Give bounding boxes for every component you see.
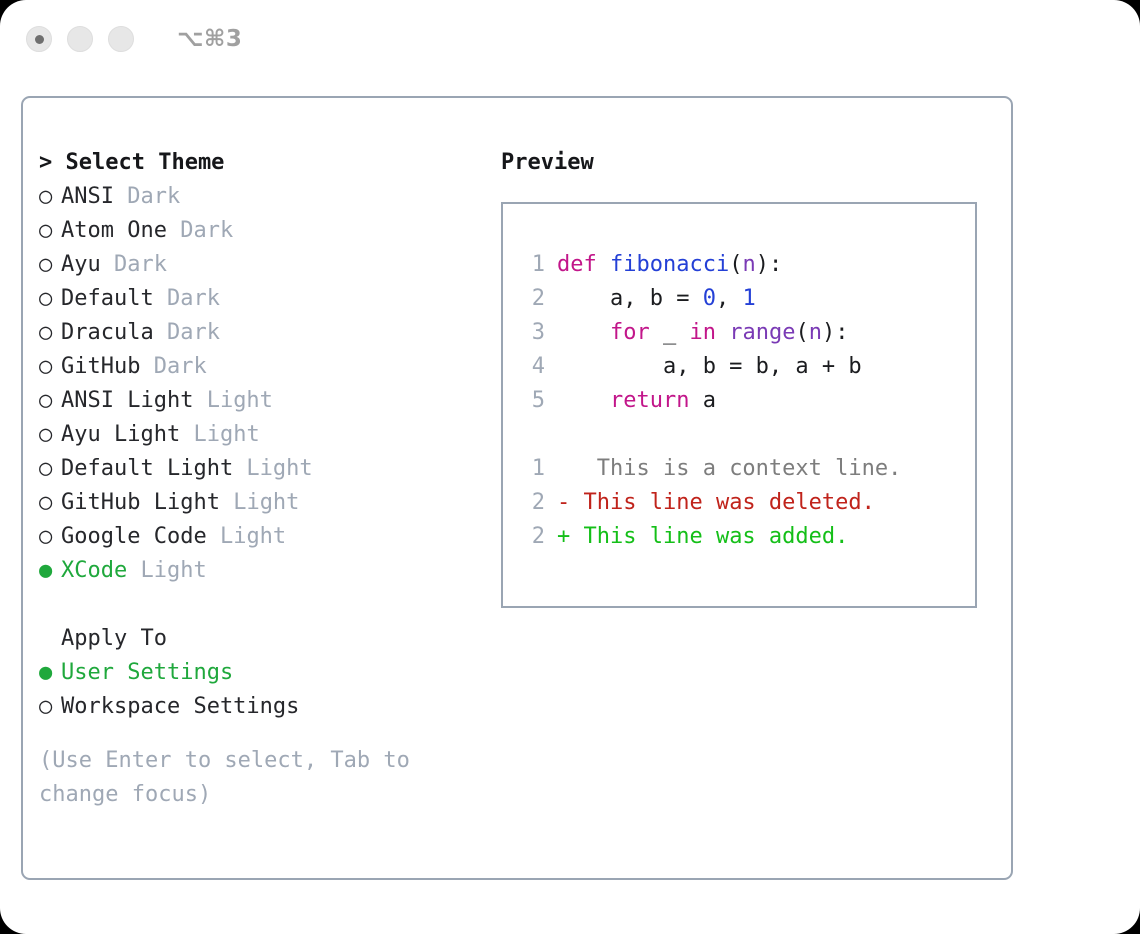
apply-to-heading: Apply To <box>39 622 479 656</box>
preview-column: Preview 1def fibonacci(n):2 a, b = 0, 13… <box>501 146 1001 608</box>
theme-name: ANSI Light <box>61 388 193 413</box>
select-theme-heading: > Select Theme <box>39 146 479 180</box>
theme-variant-badge: Dark <box>101 252 167 277</box>
theme-list-item[interactable]: ○ANSI Light Light <box>39 384 479 418</box>
theme-name: Atom One <box>61 218 167 243</box>
theme-name: GitHub <box>61 354 140 379</box>
apply-to-item[interactable]: ○Workspace Settings <box>39 690 479 724</box>
diff-sign: - <box>557 490 570 515</box>
apply-to-item[interactable]: ●User Settings <box>39 656 479 690</box>
theme-name: GitHub Light <box>61 490 220 515</box>
code-token <box>557 320 610 345</box>
radio-selected-icon[interactable]: ● <box>39 656 61 690</box>
radio-unselected-icon[interactable]: ○ <box>39 418 61 452</box>
code-token: 0 <box>703 286 716 311</box>
line-number: 2 <box>521 520 545 554</box>
theme-variant-badge: Light <box>193 388 272 413</box>
radio-unselected-icon[interactable]: ○ <box>39 282 61 316</box>
theme-picker-panel: > Select Theme ○ANSI Dark○Atom One Dark○… <box>21 96 1013 880</box>
traffic-light-second[interactable] <box>67 26 93 52</box>
code-line: 4 a, b = b, a + b <box>521 350 975 384</box>
diff-line: 2- This line was deleted. <box>521 486 975 520</box>
code-token: a, b = b, a + b <box>557 354 862 379</box>
apply-to-list: ●User Settings○Workspace Settings <box>39 656 479 724</box>
theme-name: XCode <box>61 558 127 583</box>
theme-name: Default <box>61 286 154 311</box>
diff-line: 2+ This line was added. <box>521 520 975 554</box>
traffic-light-third[interactable] <box>108 26 134 52</box>
radio-unselected-icon[interactable]: ○ <box>39 486 61 520</box>
keyboard-hint-text: (Use Enter to select, Tab to change focu… <box>39 744 439 812</box>
code-token: ): <box>822 320 849 345</box>
code-token: range <box>729 320 795 345</box>
code-diff-separator <box>521 418 975 452</box>
code-token <box>557 388 610 413</box>
app-window: ⌥⌘3 > Select Theme ○ANSI Dark○Atom One D… <box>0 0 1140 934</box>
theme-name: Dracula <box>61 320 154 345</box>
theme-name: Ayu <box>61 252 101 277</box>
code-token: return <box>610 388 689 413</box>
radio-selected-icon[interactable]: ● <box>39 554 61 588</box>
code-line: 3 for _ in range(n): <box>521 316 975 350</box>
line-number: 5 <box>521 384 545 418</box>
theme-list-item[interactable]: ●XCode Light <box>39 554 479 588</box>
radio-unselected-icon[interactable]: ○ <box>39 248 61 282</box>
diff-sample-block: 1 This is a context line.2- This line wa… <box>521 452 975 554</box>
line-number: 1 <box>521 248 545 282</box>
code-line: 1def fibonacci(n): <box>521 248 975 282</box>
radio-unselected-icon[interactable]: ○ <box>39 180 61 214</box>
theme-list-item[interactable]: ○Ayu Dark <box>39 248 479 282</box>
panel-columns: > Select Theme ○ANSI Dark○Atom One Dark○… <box>23 98 1011 878</box>
theme-variant-badge: Light <box>233 456 312 481</box>
title-bar: ⌥⌘3 <box>0 0 1140 78</box>
code-token: def <box>557 252 597 277</box>
code-token: for <box>610 320 650 345</box>
apply-to-label: User Settings <box>61 660 233 685</box>
code-token: ( <box>729 252 742 277</box>
apply-to-label: Workspace Settings <box>61 694 299 719</box>
theme-list-item[interactable]: ○Default Dark <box>39 282 479 316</box>
preview-heading: Preview <box>501 146 1001 180</box>
code-token: in <box>689 320 716 345</box>
theme-list-column: > Select Theme ○ANSI Dark○Atom One Dark○… <box>39 146 479 812</box>
code-token: n <box>809 320 822 345</box>
theme-list-item[interactable]: ○Atom One Dark <box>39 214 479 248</box>
line-number: 1 <box>521 452 545 486</box>
radio-unselected-icon[interactable]: ○ <box>39 384 61 418</box>
theme-variant-badge: Dark <box>154 320 220 345</box>
line-number: 2 <box>521 282 545 316</box>
line-number: 4 <box>521 350 545 384</box>
theme-list-item[interactable]: ○ANSI Dark <box>39 180 479 214</box>
theme-list-item[interactable]: ○Dracula Dark <box>39 316 479 350</box>
theme-list-item[interactable]: ○Default Light Light <box>39 452 479 486</box>
traffic-light-first[interactable] <box>26 26 52 52</box>
theme-variant-badge: Light <box>207 524 286 549</box>
list-spacer <box>39 588 479 622</box>
theme-list-item[interactable]: ○Google Code Light <box>39 520 479 554</box>
theme-variant-badge: Light <box>180 422 259 447</box>
radio-unselected-icon[interactable]: ○ <box>39 452 61 486</box>
radio-unselected-icon[interactable]: ○ <box>39 520 61 554</box>
theme-variant-badge: Light <box>220 490 299 515</box>
code-token <box>716 320 729 345</box>
radio-unselected-icon[interactable]: ○ <box>39 690 61 724</box>
code-token: a, b = <box>557 286 703 311</box>
apply-to-heading-label: Apply To <box>61 626 167 651</box>
theme-name: Default Light <box>61 456 233 481</box>
diff-text: This line was added. <box>570 524 848 549</box>
theme-name: Google Code <box>61 524 207 549</box>
theme-variant-badge: Dark <box>140 354 206 379</box>
theme-variant-badge: Dark <box>167 218 233 243</box>
code-token: fibonacci <box>610 252 729 277</box>
radio-unselected-icon[interactable]: ○ <box>39 350 61 384</box>
diff-sign <box>557 456 570 481</box>
code-line: 5 return a <box>521 384 975 418</box>
theme-variant-badge: Dark <box>114 184 180 209</box>
diff-line: 1 This is a context line. <box>521 452 975 486</box>
code-token: ( <box>795 320 808 345</box>
theme-variant-badge: Dark <box>154 286 220 311</box>
theme-name: Ayu Light <box>61 422 180 447</box>
diff-text: This is a context line. <box>570 456 901 481</box>
keyboard-shortcut-label: ⌥⌘3 <box>177 26 242 52</box>
theme-list-item[interactable]: ○GitHub Dark <box>39 350 479 384</box>
traffic-light-active-dot <box>35 35 44 44</box>
theme-list-item[interactable]: ○Ayu Light Light <box>39 418 479 452</box>
diff-text: This line was deleted. <box>570 490 875 515</box>
code-token: 1 <box>742 286 755 311</box>
theme-list: ○ANSI Dark○Atom One Dark○Ayu Dark○Defaul… <box>39 180 479 588</box>
radio-unselected-icon[interactable]: ○ <box>39 214 61 248</box>
theme-name: ANSI <box>61 184 114 209</box>
theme-variant-badge: Light <box>127 558 206 583</box>
code-token: _ <box>650 320 690 345</box>
code-token: n <box>742 252 755 277</box>
theme-list-item[interactable]: ○GitHub Light Light <box>39 486 479 520</box>
code-token: , <box>716 286 743 311</box>
code-token: ): <box>756 252 783 277</box>
code-token: a <box>689 388 716 413</box>
radio-unselected-icon[interactable]: ○ <box>39 316 61 350</box>
line-number: 2 <box>521 486 545 520</box>
preview-box: 1def fibonacci(n):2 a, b = 0, 13 for _ i… <box>501 202 977 608</box>
line-number: 3 <box>521 316 545 350</box>
code-token <box>597 252 610 277</box>
code-line: 2 a, b = 0, 1 <box>521 282 975 316</box>
code-sample-block: 1def fibonacci(n):2 a, b = 0, 13 for _ i… <box>521 248 975 418</box>
diff-sign: + <box>557 524 570 549</box>
